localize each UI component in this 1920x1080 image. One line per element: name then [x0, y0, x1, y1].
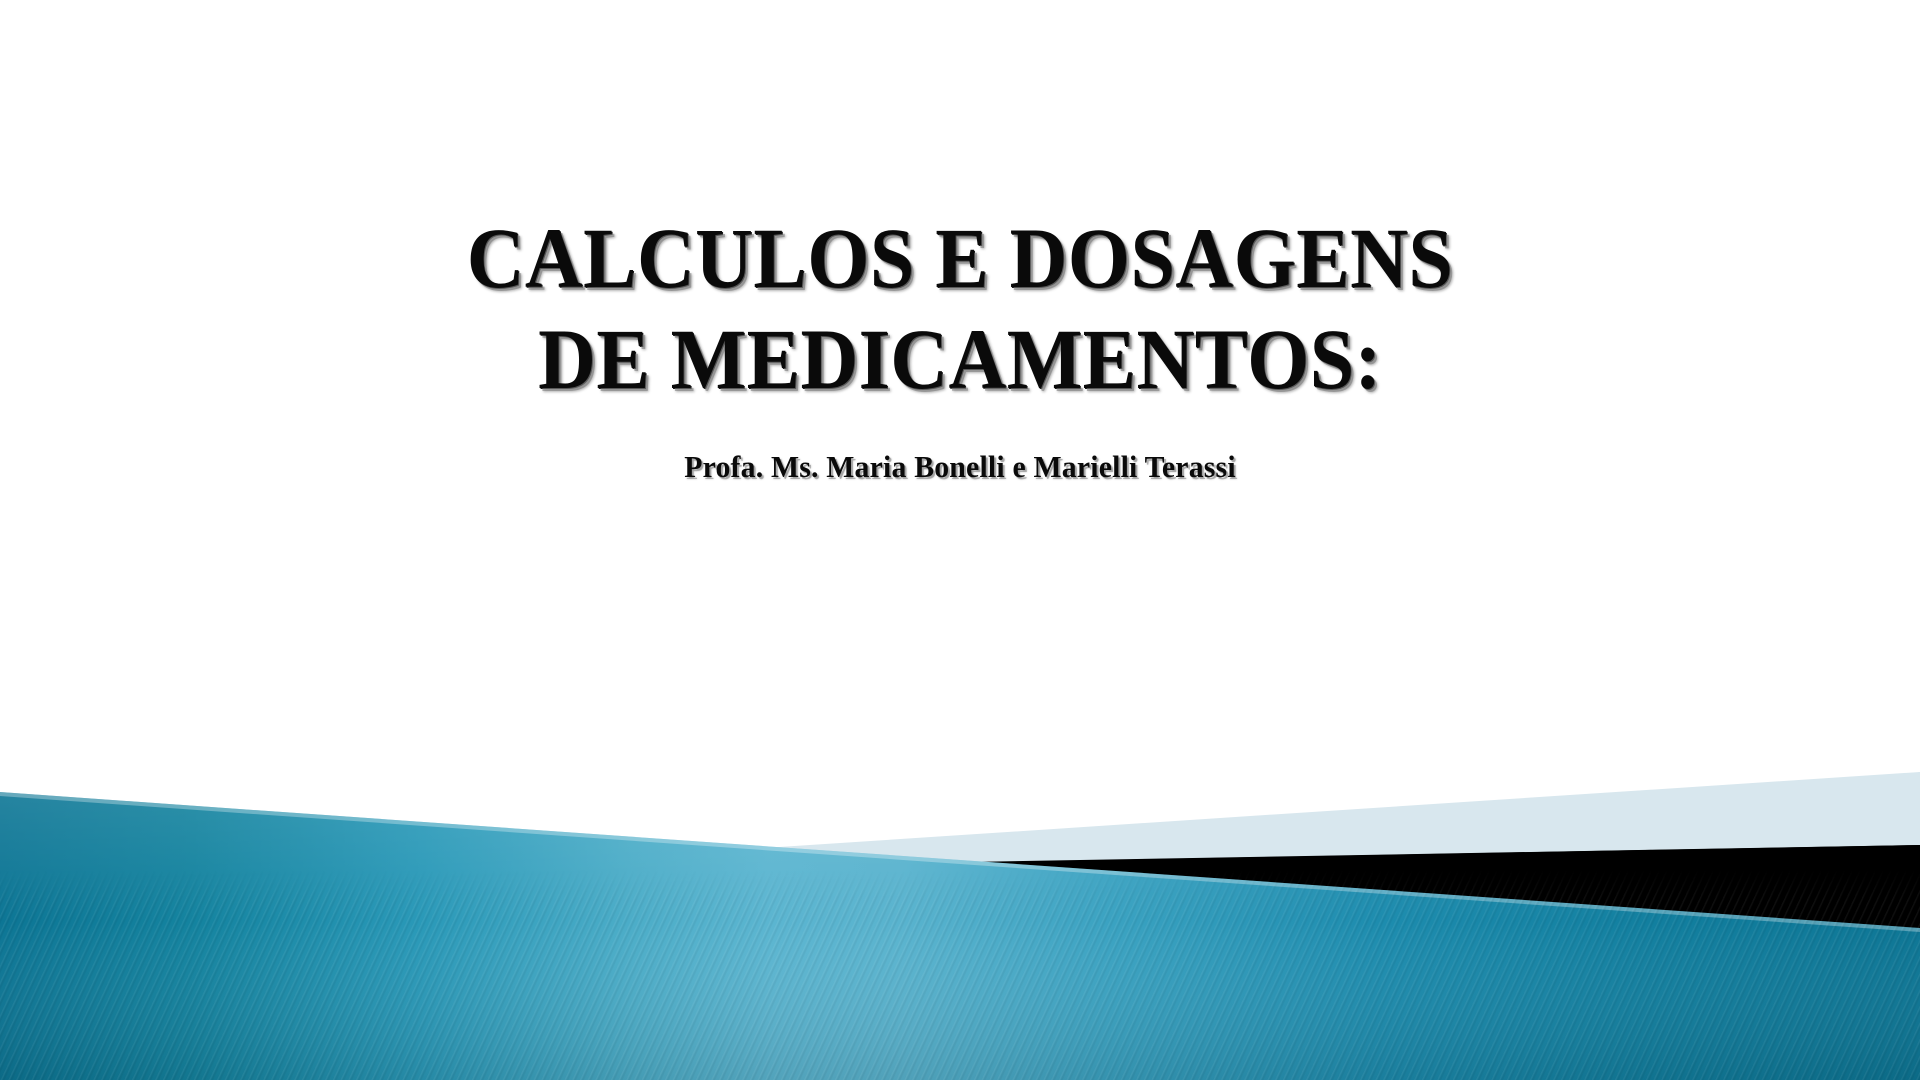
presentation-slide: CALCULOS E DOSAGENS DE MEDICAMENTOS: Pro… — [0, 0, 1920, 1080]
slide-title: CALCULOS E DOSAGENS DE MEDICAMENTOS: — [67, 208, 1853, 409]
slide-subtitle-authors: Profa. Ms. Maria Bonelli e Marielli Tera… — [38, 448, 1881, 485]
bottom-wave-decoration — [0, 750, 1920, 1080]
